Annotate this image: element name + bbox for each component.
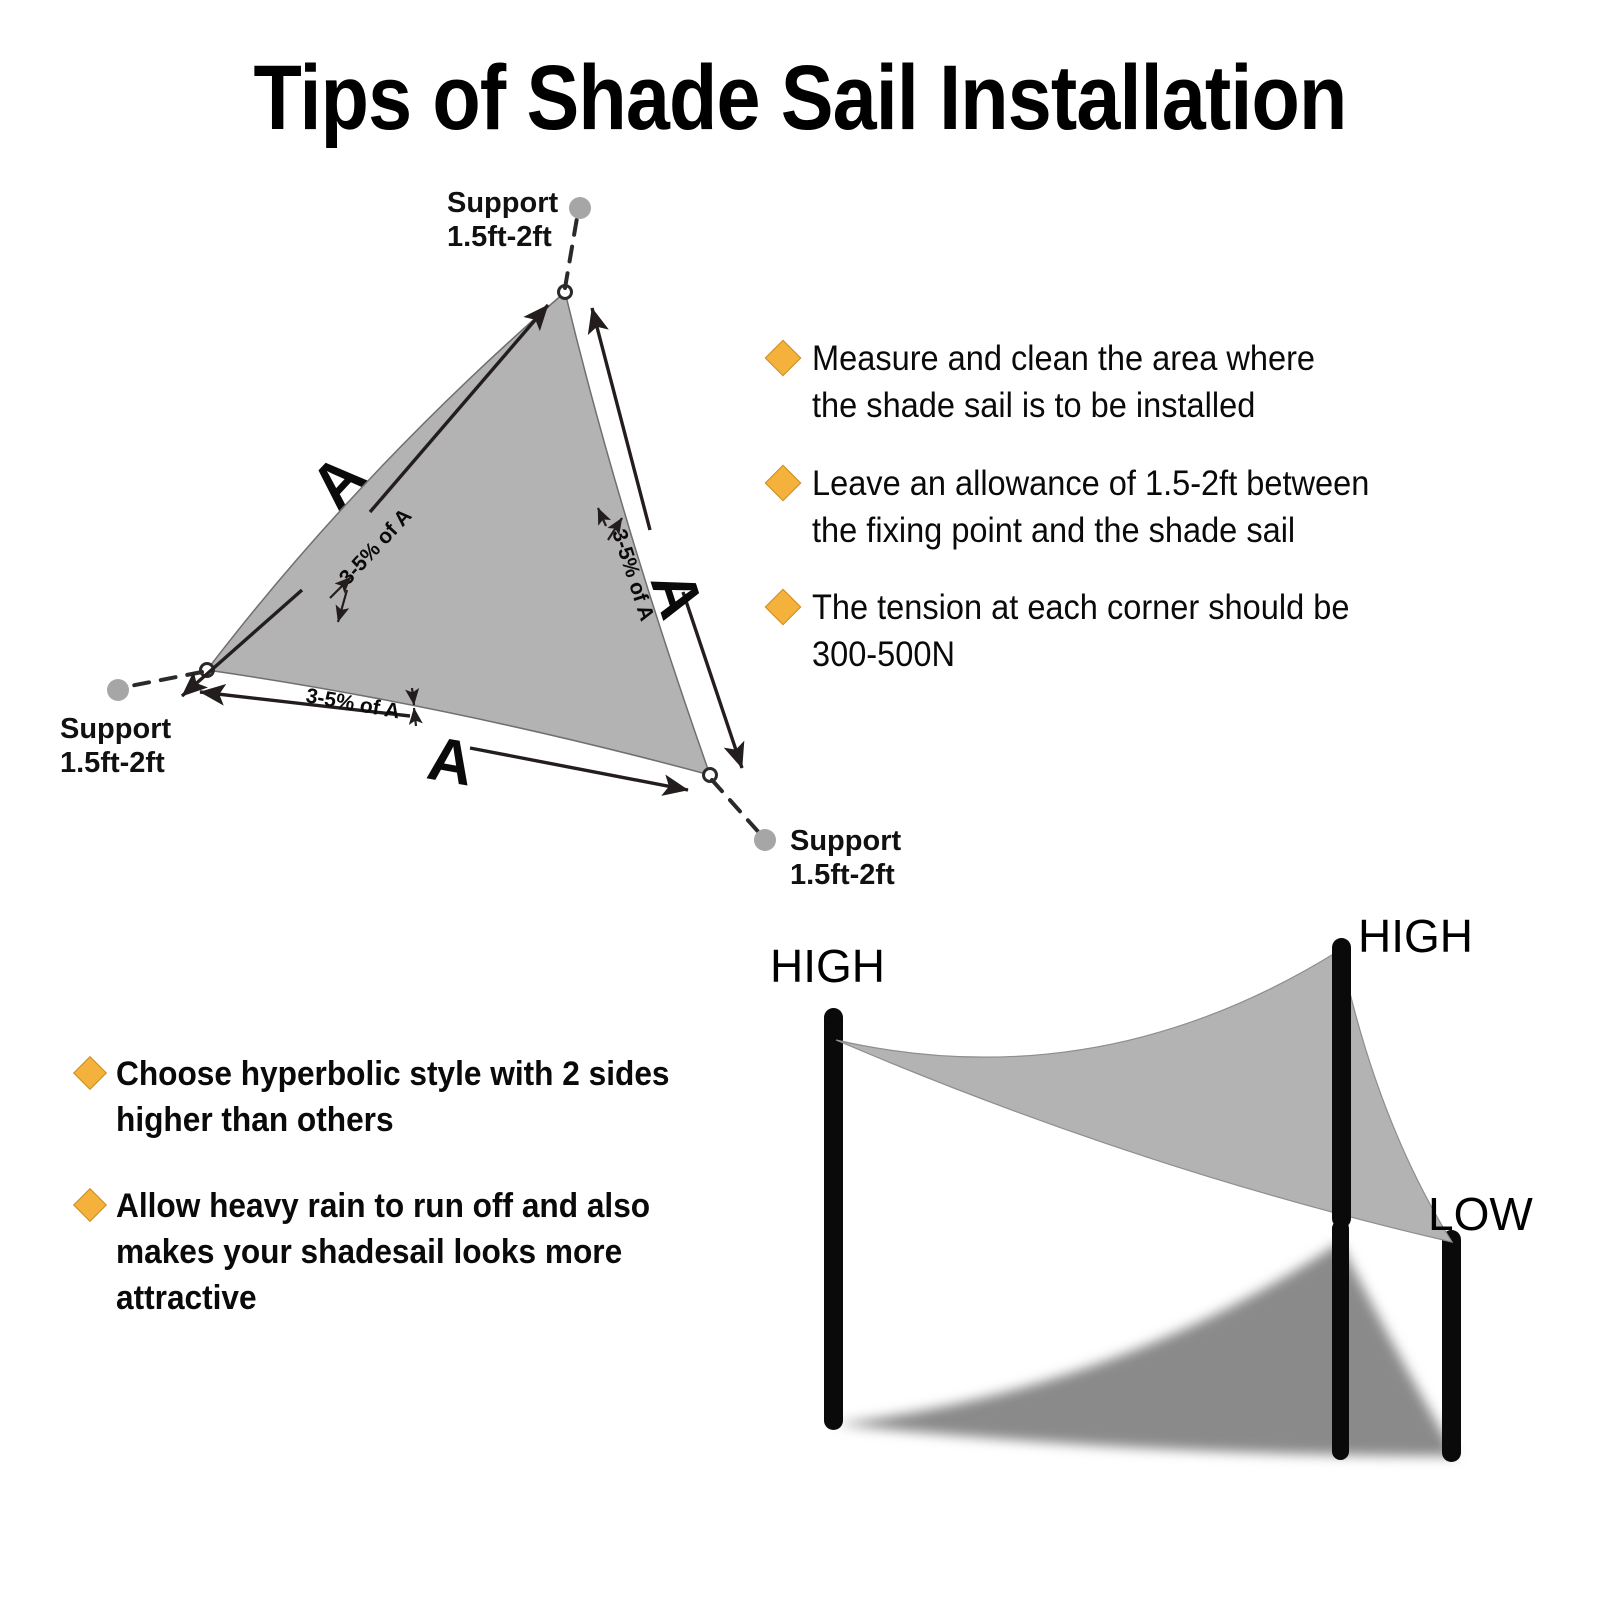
list-item: Choose hyperbolic style with 2 sides hig… xyxy=(78,1052,798,1144)
pole-middle xyxy=(1332,1220,1349,1460)
list-item: The tension at each corner should be 300… xyxy=(770,584,1570,679)
support-label-top-line2: 1.5ft-2ft xyxy=(447,221,552,253)
allowance-line-top xyxy=(565,212,578,288)
offset-arrow-bottom-b xyxy=(414,708,416,726)
allowance-line-bottom-right xyxy=(712,780,762,836)
support-dot-bottom-right xyxy=(754,829,776,851)
tip-text: Choose hyperbolic style with 2 sides hig… xyxy=(116,1052,670,1144)
ground-shadow xyxy=(836,1242,1456,1456)
pole-label-left-high: HIGH xyxy=(770,940,885,992)
support-dot-top xyxy=(569,197,591,219)
support-label-top-line1: Support xyxy=(447,187,558,219)
diamond-bullet-icon xyxy=(765,464,802,501)
pole-right-high xyxy=(1332,938,1351,1228)
diamond-bullet-icon xyxy=(73,1188,107,1222)
list-item: Measure and clean the area where the sha… xyxy=(770,335,1570,430)
eyelet-bottom-right xyxy=(704,769,717,782)
support-label-left: Support 1.5ft-2ft xyxy=(60,713,171,779)
pole-right-low xyxy=(1442,1230,1461,1462)
tip-text: Measure and clean the area where the sha… xyxy=(812,335,1315,430)
sail-surface-hyperbolic xyxy=(836,950,1452,1242)
side-label-A-bottom: A xyxy=(423,724,479,800)
page-title: Tips of Shade Sail Installation xyxy=(112,52,1488,144)
support-label-left-line2: 1.5ft-2ft xyxy=(60,747,165,779)
pole-label-right-high: HIGH xyxy=(1358,910,1473,962)
support-dot-left xyxy=(107,679,129,701)
support-label-top: Support 1.5ft-2ft xyxy=(447,187,558,253)
pole-left-high xyxy=(824,1008,843,1430)
diamond-bullet-icon xyxy=(765,589,802,626)
tip-text: Allow heavy rain to run off and also mak… xyxy=(116,1184,650,1322)
tips-list-left: Choose hyperbolic style with 2 sides hig… xyxy=(78,1052,798,1361)
diamond-bullet-icon xyxy=(73,1056,107,1090)
list-item: Leave an allowance of 1.5-2ft between th… xyxy=(770,460,1570,555)
hyperbolic-shade-sail-diagram: HIGH HIGH LOW xyxy=(740,890,1600,1590)
diamond-bullet-icon xyxy=(765,340,802,377)
support-label-bottom-right: Support 1.5ft-2ft xyxy=(790,825,901,891)
support-label-br-line1: Support xyxy=(790,825,901,857)
tips-list-right: Measure and clean the area where the sha… xyxy=(770,335,1570,709)
list-item: Allow heavy rain to run off and also mak… xyxy=(78,1184,798,1322)
pole-label-low: LOW xyxy=(1428,1188,1533,1240)
allowance-line-left xyxy=(120,672,202,688)
support-label-br-line2: 1.5ft-2ft xyxy=(790,859,895,891)
tip-text: The tension at each corner should be 300… xyxy=(812,584,1349,679)
infographic-page: Tips of Shade Sail Installation Support … xyxy=(0,0,1600,1600)
tip-text: Leave an allowance of 1.5-2ft between th… xyxy=(812,460,1369,555)
support-label-left-line1: Support xyxy=(60,713,171,745)
